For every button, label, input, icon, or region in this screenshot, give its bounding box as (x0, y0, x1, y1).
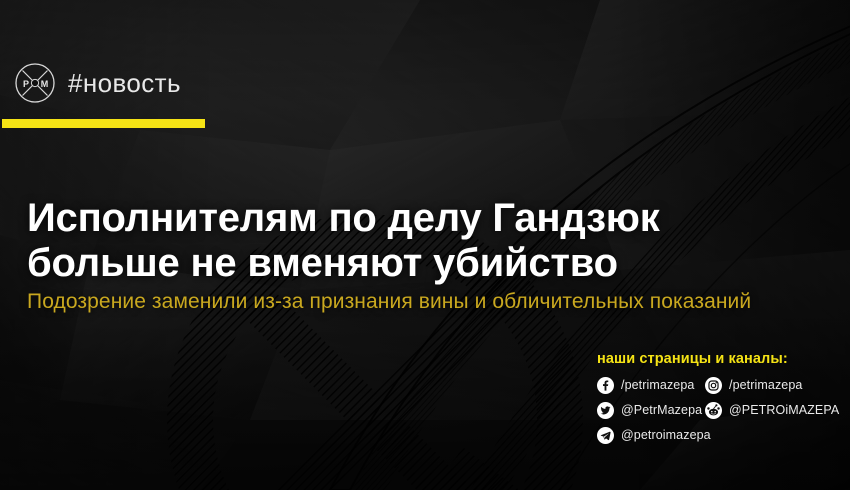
social-link-reddit[interactable]: @PETROiMAZEPA (705, 402, 840, 420)
telegram-icon (597, 427, 614, 444)
petr-i-mazepa-logo-icon: P M (14, 62, 56, 104)
social-handle-facebook: /petrimazepa (621, 379, 694, 392)
news-tag-label: #новость (68, 70, 181, 96)
social-link-facebook[interactable]: /petrimazepa (597, 377, 705, 395)
reddit-icon (705, 402, 722, 419)
social-block-title: наши страницы и каналы: (597, 352, 840, 367)
social-handle-telegram: @petroimazepa (621, 429, 711, 442)
social-link-twitter[interactable]: @PetrMazepa (597, 402, 705, 420)
social-links-grid: /petrimazepa /petrimazepa @PetrMazepa (597, 377, 840, 445)
yellow-accent-bar (2, 119, 205, 128)
social-handle-instagram: /petrimazepa (729, 379, 802, 392)
news-card: P M #новость Исполнителям по делу Гандзю… (0, 0, 850, 490)
social-handle-twitter: @PetrMazepa (621, 404, 702, 417)
svg-text:P: P (23, 79, 29, 89)
twitter-icon (597, 402, 614, 419)
article-subheadline: Подозрение заменили из-за признания вины… (27, 288, 805, 316)
instagram-icon (705, 377, 722, 394)
social-links-block: наши страницы и каналы: /petrimazepa /pe… (597, 352, 840, 445)
social-link-telegram[interactable]: @petroimazepa (597, 427, 705, 445)
facebook-icon (597, 377, 614, 394)
article-headline: Исполнителям по делу Гандзюк больше не в… (27, 196, 817, 286)
svg-text:M: M (41, 79, 49, 89)
social-handle-reddit: @PETROiMAZEPA (729, 404, 839, 417)
card-header: P M #новость (14, 62, 181, 104)
social-link-instagram[interactable]: /petrimazepa (705, 377, 840, 395)
